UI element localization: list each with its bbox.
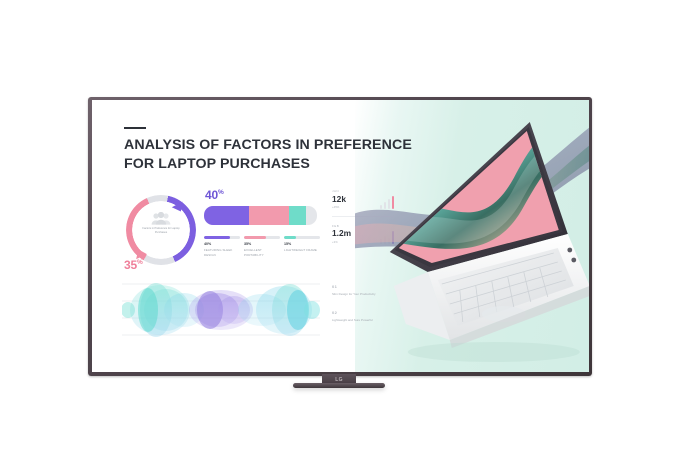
laptop-artwork bbox=[355, 100, 589, 372]
stat-month: JAN bbox=[332, 189, 346, 193]
percent-symbol: % bbox=[218, 189, 224, 196]
legend-percent: 35% bbox=[244, 242, 280, 246]
bar-segment-other bbox=[306, 206, 317, 225]
legend-percent: 15% bbox=[284, 242, 320, 246]
monitor-screen: ANALYSIS OF FACTORS IN PREFERENCE FOR LA… bbox=[92, 100, 589, 372]
donut-chart: Factors in Preference for Laptop Purchas… bbox=[126, 195, 196, 265]
wave-blobs bbox=[122, 283, 320, 337]
legend-track bbox=[204, 236, 240, 239]
wave-chart bbox=[122, 276, 320, 348]
bar-chart-legend: 40% FEATURING SLEEK DESIGN 35% EXCELLENT… bbox=[204, 236, 322, 257]
legend-item: 40% FEATURING SLEEK DESIGN bbox=[204, 236, 240, 257]
stat-delta: +45% bbox=[332, 205, 346, 209]
donut-value-secondary-number: 35 bbox=[124, 258, 137, 272]
legend-fill bbox=[204, 236, 230, 239]
donut-value-primary-number: 40 bbox=[205, 188, 218, 202]
stat-value: 12k bbox=[332, 195, 346, 203]
donut-center: Factors in Preference for Laptop Purchas… bbox=[140, 212, 182, 250]
screenshot-root: ANALYSIS OF FACTORS IN PREFERENCE FOR LA… bbox=[0, 0, 678, 450]
legend-track bbox=[284, 236, 320, 239]
stat-card-text: JAN 12k +45% bbox=[332, 189, 346, 209]
legend-label: EXCELLENT PORTABILITY bbox=[244, 248, 280, 257]
legend-track bbox=[244, 236, 280, 239]
legend-fill bbox=[244, 236, 266, 239]
bar-segment-lightweight bbox=[289, 206, 306, 225]
stat-month: FEB bbox=[332, 224, 351, 228]
port-icon bbox=[568, 248, 573, 253]
people-icon bbox=[151, 212, 171, 225]
stacked-bar-chart bbox=[204, 206, 317, 225]
stat-delta: +3% bbox=[332, 240, 351, 244]
legend-percent: 40% bbox=[204, 242, 240, 246]
stat-value: 1.2m bbox=[332, 229, 351, 237]
legend-fill bbox=[284, 236, 296, 239]
donut-value-primary: 40% bbox=[205, 188, 224, 202]
percent-symbol: % bbox=[137, 259, 143, 266]
bar-segment-portability bbox=[249, 206, 289, 225]
monitor-stand-foot bbox=[293, 383, 385, 388]
bar-segment-sleek-design bbox=[204, 206, 249, 225]
legend-label: LIGHTWEIGHT FRAME bbox=[284, 248, 320, 253]
legend-item: 35% EXCELLENT PORTABILITY bbox=[244, 236, 280, 257]
port-icon-2 bbox=[572, 258, 577, 263]
wave-chart-svg bbox=[122, 276, 320, 348]
laptop-illustration bbox=[355, 100, 589, 372]
laptop-shadow bbox=[408, 342, 580, 362]
legend-item: 15% LIGHTWEIGHT FRAME bbox=[284, 236, 320, 257]
donut-value-secondary: 35% bbox=[124, 258, 143, 272]
stat-card-text: FEB 1.2m +3% bbox=[332, 224, 351, 244]
monitor-device: ANALYSIS OF FACTORS IN PREFERENCE FOR LA… bbox=[88, 97, 592, 376]
legend-label: FEATURING SLEEK DESIGN bbox=[204, 248, 240, 257]
title-rule bbox=[124, 127, 146, 129]
donut-caption: Factors in Preference for Laptop Purchas… bbox=[141, 227, 181, 235]
